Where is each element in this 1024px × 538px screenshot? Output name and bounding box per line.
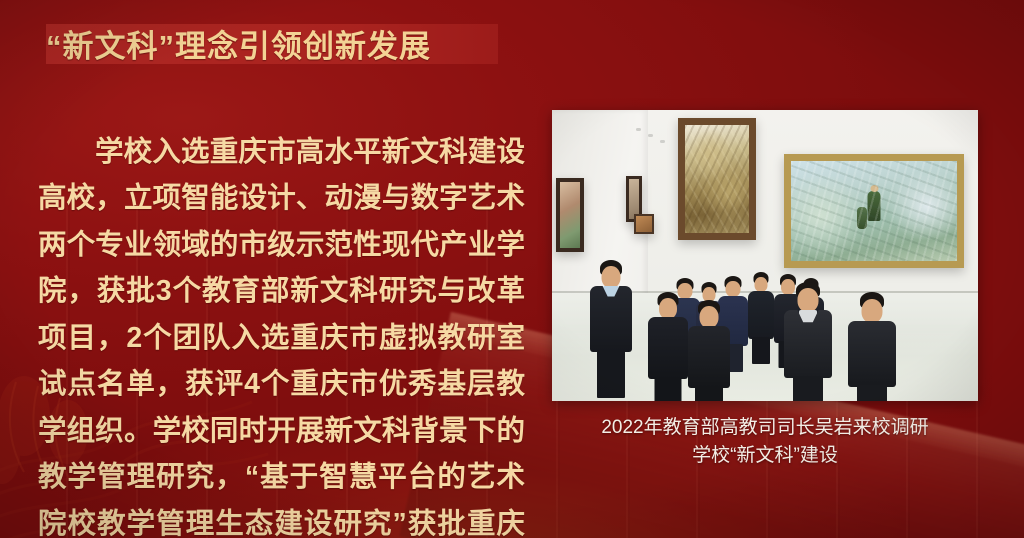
body-paragraph: 学校入选重庆市高水平新文科建设高校，立项智能设计、动漫与数字艺术两个专业领域的市… bbox=[38, 129, 525, 538]
photo-vignette bbox=[552, 110, 978, 401]
slide-root: “新文科”理念引领创新发展 学校入选重庆市高水平新文科建设高校，立项智能设计、动… bbox=[0, 0, 1024, 538]
photo-caption-line-1: 2022年教育部高教司司长吴岩来校调研 bbox=[552, 414, 978, 442]
photo-caption: 2022年教育部高教司司长吴岩来校调研 学校“新文科”建设 bbox=[552, 414, 978, 470]
photo-gallery-visit bbox=[552, 110, 978, 401]
photo-caption-line-2: 学校“新文科”建设 bbox=[552, 442, 978, 470]
photo-scene bbox=[552, 110, 978, 401]
page-title: “新文科”理念引领创新发展 bbox=[46, 21, 431, 66]
slide-title-container: “新文科”理念引领创新发展 bbox=[46, 18, 431, 68]
